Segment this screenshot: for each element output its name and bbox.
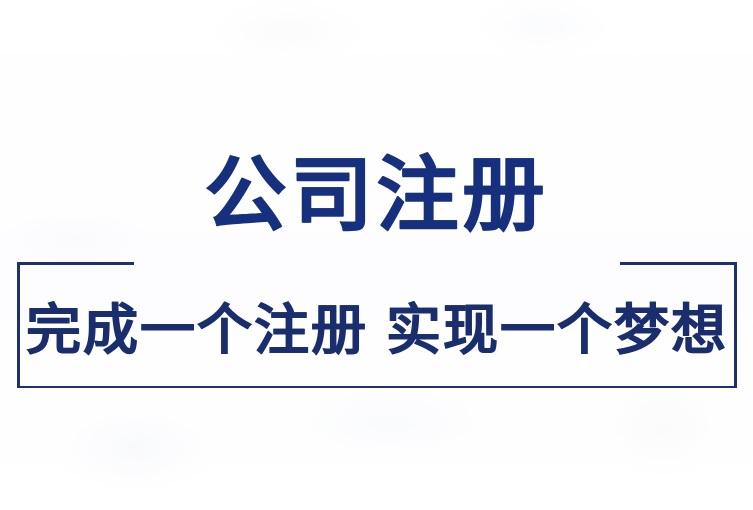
page-title: 公司注册 (0, 148, 753, 244)
slogan-part-second: 实现一个梦想 (386, 285, 728, 365)
slogan-part-first: 完成一个注册 (26, 285, 368, 365)
slogan: 完成一个注册 实现一个梦想 (17, 262, 737, 388)
paper-texture-overlay (0, 0, 753, 510)
poster-canvas: 公司注册 完成一个注册 实现一个梦想 (0, 0, 753, 510)
